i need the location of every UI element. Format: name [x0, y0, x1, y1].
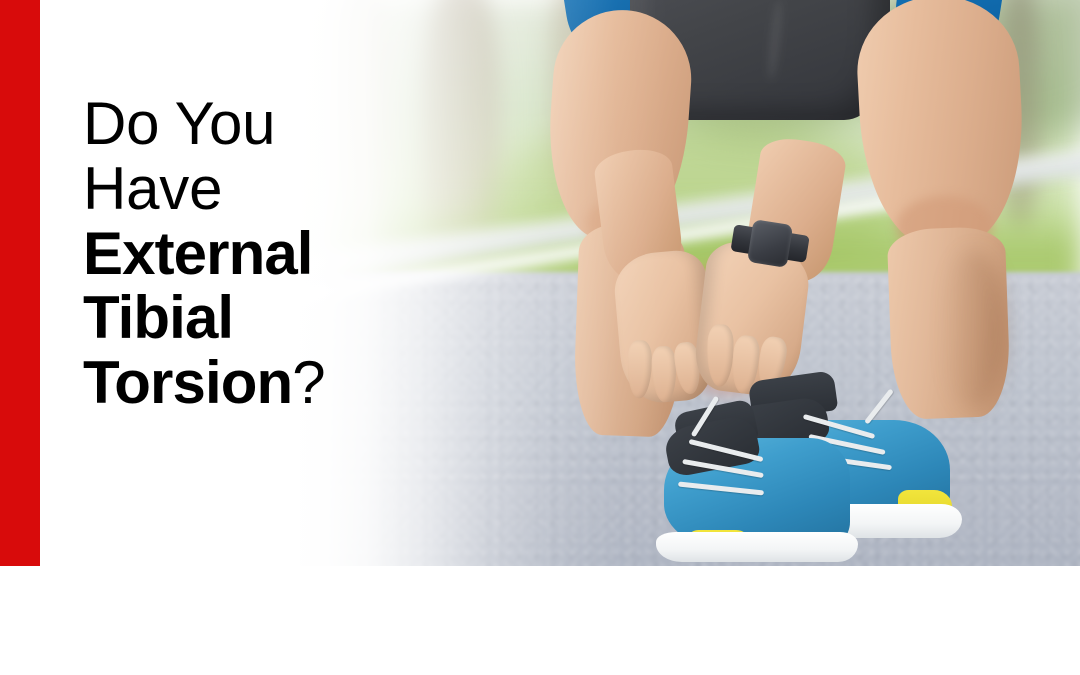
headline-line-3: External — [83, 222, 413, 287]
running-shoe-front — [630, 404, 880, 566]
headline-question-mark: ? — [292, 349, 324, 416]
banner-root: Do You Have External Tibial Torsion? — [0, 0, 1080, 675]
headline-line-5-text: Torsion — [83, 349, 292, 416]
shorts-fold — [766, 0, 784, 80]
calf-shadow — [940, 250, 1006, 410]
finger — [627, 340, 652, 398]
watch-face — [747, 219, 793, 268]
headline-line-1: Do You — [83, 92, 413, 157]
headline-line-5: Torsion? — [83, 351, 413, 416]
finger — [651, 346, 677, 403]
headline-line-4: Tibial — [83, 286, 413, 351]
page-title: Do You Have External Tibial Torsion? — [83, 92, 413, 416]
finger — [707, 324, 734, 386]
headline-line-2: Have — [83, 157, 413, 222]
red-accent-bar — [0, 0, 40, 566]
shoe-midsole — [656, 532, 858, 562]
photo-inner — [300, 0, 1080, 566]
bottom-white-band — [0, 566, 1080, 675]
runner-figure — [300, 0, 1080, 566]
